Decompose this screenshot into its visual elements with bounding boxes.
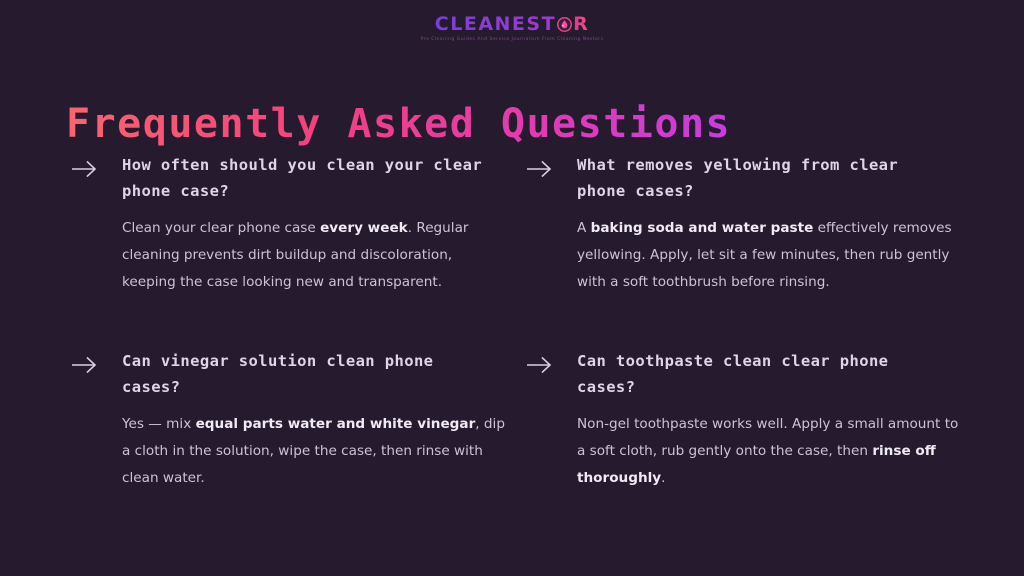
faq-answer: Clean your clear phone case every week. … <box>122 215 506 296</box>
brand-tagline: Pro Cleaning Guides And Service Journali… <box>421 37 604 42</box>
faq-answer: Yes — mix equal parts water and white vi… <box>122 411 506 492</box>
faq-question: What removes yellowing from clear phone … <box>577 152 942 204</box>
brand-wordmark-part2: R <box>573 15 589 34</box>
faq-question: How often should you clean your clear ph… <box>122 152 487 204</box>
droplet-orb-icon <box>557 17 572 32</box>
faq-question: Can vinegar solution clean phone cases? <box>122 348 487 400</box>
faq-item[interactable]: What removes yellowing from clear phone … <box>521 152 961 296</box>
faq-item[interactable]: Can toothpaste clean clear phone cases? … <box>521 348 961 492</box>
brand-header: CLEANEST R Pro Cleaning Guides And Servi… <box>0 0 1024 56</box>
brand-wordmark-part1: CLEANEST <box>435 15 556 34</box>
brand-wordmark[interactable]: CLEANEST R <box>435 15 589 34</box>
arrow-right-icon <box>525 158 555 180</box>
arrow-right-icon <box>525 354 555 376</box>
page-title: Frequently Asked Questions <box>66 99 731 149</box>
arrow-right-icon <box>70 158 100 180</box>
faq-item[interactable]: Can vinegar solution clean phone cases? … <box>66 348 506 492</box>
arrow-right-icon <box>70 354 100 376</box>
faq-question: Can toothpaste clean clear phone cases? <box>577 348 942 400</box>
faq-item[interactable]: How often should you clean your clear ph… <box>66 152 506 296</box>
faq-list: How often should you clean your clear ph… <box>66 152 976 492</box>
faq-answer: Non-gel toothpaste works well. Apply a s… <box>577 411 961 492</box>
faq-answer: A baking soda and water paste effectivel… <box>577 215 961 296</box>
